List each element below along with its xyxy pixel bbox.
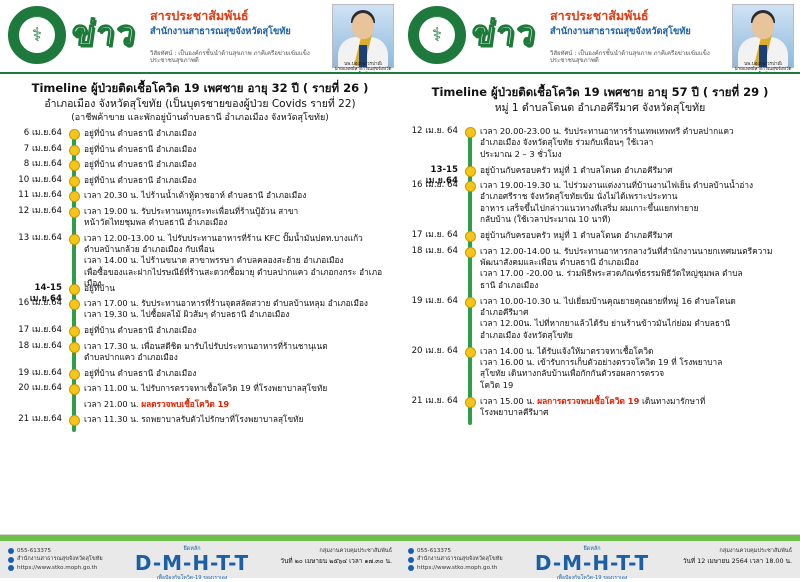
left-footer-office: สำนักงานสาธารณสุขจังหวัดสุโขทัย — [17, 555, 103, 563]
timeline-dot — [69, 145, 80, 156]
right-dmhtt-text: D-M-H-T-T — [532, 553, 652, 573]
timeline-dot — [69, 326, 80, 337]
timeline-dot — [69, 369, 80, 380]
ministry-seal-icon: ⚕ — [8, 6, 66, 64]
timeline-date: 16 เม.ย.64 — [4, 298, 62, 309]
left-heading-line2: อำเภอเมือง จังหวัดสุโขทัย (เป็นบุตรชายขอ… — [0, 97, 400, 112]
left-heading-line3: (อาชีพค้าขาย และพักอยู่บ้านตำบลธานี อำเภ… — [0, 112, 400, 125]
phone-icon — [8, 548, 14, 554]
right-footer-office: สำนักงานสาธารณสุขจังหวัดสุโขทัย — [417, 555, 503, 563]
right-footer-right: กลุ่มงานควบคุมประชาสัมพันธ์ วันที่ 12 เม… — [662, 547, 792, 566]
right-banner-subtitle: สำนักงานสาธารณสุขจังหวัดสุโขทัย — [550, 26, 728, 38]
caduceus-icon-right: ⚕ — [418, 16, 456, 54]
right-footer-band — [400, 535, 800, 541]
timeline-date: 17 เม.ย.64 — [4, 325, 62, 336]
timeline-description: อยู่บ้านกับครอบครัว หมู่ที่ 1 ตำบลโตนด อ… — [480, 230, 798, 241]
timeline-description: เวลา 17.30 น. เพื่อนสดีชิด มารับไปรับประ… — [84, 341, 396, 364]
timeline-dot — [465, 127, 476, 138]
timeline-description: เวลา 20.30 น. ไปร้านน้ำเต้าหู้ตาชอาห์ ตำ… — [84, 190, 396, 201]
right-portrait-caption: นพ.ปองพล วรปาณิ นายแพทย์สาธารณสุขจังหวัด… — [732, 62, 794, 74]
building-icon-right — [408, 557, 414, 563]
timeline-dot — [69, 299, 80, 310]
phone-icon-right — [408, 548, 414, 554]
timeline-dot — [465, 231, 476, 242]
timeline-date: 18 เม.ย. 64 — [400, 246, 458, 257]
left-portrait-caption: นพ.ปองพล วรปาณิ นายแพทย์สาธารณสุขจังหวัด… — [332, 62, 394, 74]
right-banner-khao: ข่าว — [468, 6, 540, 60]
portrait-head-right — [752, 13, 774, 39]
timeline-dot — [69, 160, 80, 171]
timeline-dot — [465, 397, 476, 408]
timeline-dot — [69, 176, 80, 187]
timeline-dot — [69, 207, 80, 218]
portrait-head — [352, 13, 374, 39]
timeline-date: 20 เม.ย.64 — [4, 383, 62, 394]
left-dmhtt-text: D-M-H-T-T — [132, 553, 252, 573]
left-footer-contact: 055-613375 สำนักงานสาธารณสุขจังหวัดสุโขท… — [8, 547, 103, 572]
left-banner-subtitle: สำนักงานสาธารณสุขจังหวัดสุโขทัย — [150, 26, 328, 38]
right-footer: 055-613375 สำนักงานสาธารณสุขจังหวัดสุโขท… — [400, 534, 800, 578]
left-official-portrait — [332, 4, 394, 68]
timeline-description: เวลา 20.00-23.00 น. รับประทานอาหารร้านเท… — [480, 126, 798, 160]
timeline-date: 12 เม.ย. 64 — [400, 126, 458, 137]
timeline-description: เวลา 10.00-10.30 น. ไปเยี่ยมบ้านคุณยายคุ… — [480, 296, 798, 342]
caduceus-icon: ⚕ — [18, 16, 56, 54]
left-footer-note: กลุ่มงานควบคุมประชาสัมพันธ์ — [262, 547, 392, 556]
right-heading-line2: หมู่ 1 ตำบลโตนด อำเภอคีรีมาศ จังหวัดสุโข… — [400, 101, 800, 116]
left-footer-right: กลุ่มงานควบคุมประชาสัมพันธ์ วันที่ ๒๐ เม… — [262, 547, 392, 566]
highlight-text: ผลตรวจพบเชื้อโควิด 19 — [141, 399, 229, 409]
timeline-date: 21 เม.ย.64 — [4, 414, 62, 425]
timeline-dot — [69, 384, 80, 395]
timeline-dot — [69, 129, 80, 140]
timeline-description: เวลา 14.00 น. ได้รับแจ้งให้มาตรวจหาเชื้อ… — [480, 346, 798, 392]
timeline-description: เวลา 11.00 น. ไปรับการตรวจหาเชื้อโควิด 1… — [84, 383, 396, 394]
timeline-date: 17 เม.ย. 64 — [400, 230, 458, 241]
timeline-date: 11 เม.ย.64 — [4, 190, 62, 201]
timeline-description: อยู่ที่บ้าน ตำบลธานี อำเภอเมือง — [84, 144, 396, 155]
timeline-dot — [69, 415, 80, 426]
timeline-date: 10 เม.ย.64 — [4, 175, 62, 186]
timeline-description: เวลา 17.00 น. รับประทานอาหารที่ร้านจุดสล… — [84, 298, 396, 321]
globe-icon — [8, 565, 14, 571]
ministry-seal-icon-right: ⚕ — [408, 6, 466, 64]
timeline-description: เวลา 12.00-13.00 น. ไปรับประทานอาหารที่ร… — [84, 233, 396, 290]
timeline-description: อยู่ที่บ้าน ตำบลธานี อำเภอเมือง — [84, 128, 396, 139]
left-poster-panel: ⚕ ข่าว สารประชาสัมพันธ์ สำนักงานสาธารณสุ… — [0, 0, 400, 578]
right-footer-web[interactable]: https://www.stko.moph.go.th — [417, 564, 497, 572]
right-footer-phone: 055-613375 — [417, 547, 451, 555]
right-banner-title: สารประชาสัมพันธ์ — [550, 8, 720, 24]
globe-icon-right — [408, 565, 414, 571]
right-dmhtt-block: ยึดหลัก D-M-H-T-T เพื่อป้องกันโควิด-19 ข… — [532, 545, 652, 582]
timeline-dot — [465, 297, 476, 308]
timeline-date: 7 เม.ย.64 — [4, 144, 62, 155]
timeline-description: เวลา 15.00 น. ผลการตรวจพบเชื้อโควิด 19 เ… — [480, 396, 798, 419]
timeline-description: อยู่ที่บ้าน ตำบลธานี อำเภอเมือง — [84, 175, 396, 186]
right-header-banner: ⚕ ข่าว สารประชาสัมพันธ์ สำนักงานสาธารณสุ… — [400, 0, 800, 74]
timeline-dot — [465, 181, 476, 192]
timeline-description: เวลา 21.00 น. ผลตรวจพบเชื้อโควิด 19 — [84, 399, 396, 410]
timeline-description: เวลา 11.30 น. รถพยาบาลรับตัวไปรักษาที่โร… — [84, 414, 396, 425]
timeline-dot — [465, 347, 476, 358]
poster-page: ⚕ ข่าว สารประชาสัมพันธ์ สำนักงานสาธารณสุ… — [0, 0, 800, 578]
right-dmhtt-sub: เพื่อป้องกันโควิด-19 ของเราเอง — [532, 574, 652, 582]
timeline-description: อยู่ที่บ้าน ตำบลธานี อำเภอเมือง — [84, 325, 396, 336]
right-heading-line1: Timeline ผู้ป่วยติดเชื้อโควิด 19 เพศชาย … — [400, 84, 800, 101]
left-footer: 055-613375 สำนักงานสาธารณสุขจังหวัดสุโขท… — [0, 534, 400, 578]
timeline-dot — [465, 247, 476, 258]
timeline-dot — [69, 191, 80, 202]
left-banner-khao: ข่าว — [68, 6, 140, 60]
left-footer-web[interactable]: https://www.stko.moph.go.th — [17, 564, 97, 572]
timeline-description: เวลา 19.00 น. รับประทานหมูกระทะเพื่อนที่… — [84, 206, 396, 229]
right-footer-contact: 055-613375 สำนักงานสาธารณสุขจังหวัดสุโขท… — [408, 547, 503, 572]
timeline-date: 20 เม.ย. 64 — [400, 346, 458, 357]
timeline-description: อยู่ที่บ้าน ตำบลธานี อำเภอเมือง — [84, 368, 396, 379]
right-poster-panel: ⚕ ข่าว สารประชาสัมพันธ์ สำนักงานสาธารณสุ… — [400, 0, 800, 578]
timeline-date: 8 เม.ย.64 — [4, 159, 62, 170]
left-banner-vision: วิสัยทัศน์ : เป็นองค์กรชั้นนำด้านสุขภาพ … — [150, 50, 328, 64]
right-footer-date: วันที่ 12 เมษายน 2564 เวลา 18.00 น. — [662, 556, 792, 566]
timeline-date: 13 เม.ย.64 — [4, 233, 62, 244]
left-footer-phone: 055-613375 — [17, 547, 51, 555]
right-banner-vision: วิสัยทัศน์ : เป็นองค์กรชั้นนำด้านสุขภาพ … — [550, 50, 728, 64]
left-heading-line1: Timeline ผู้ป่วยติดเชื้อโควิด 19 เพศชาย … — [0, 80, 400, 97]
timeline-date: 19 เม.ย. 64 — [400, 296, 458, 307]
timeline-description: เวลา 12.00-14.00 น. รับประทานอาหารกลางวั… — [480, 246, 798, 292]
left-header-banner: ⚕ ข่าว สารประชาสัมพันธ์ สำนักงานสาธารณสุ… — [0, 0, 400, 74]
right-footer-note: กลุ่มงานควบคุมประชาสัมพันธ์ — [662, 547, 792, 556]
left-footer-band — [0, 535, 400, 541]
left-heading-block: Timeline ผู้ป่วยติดเชื้อโควิด 19 เพศชาย … — [0, 80, 400, 124]
timeline-description: อยู่ที่บ้าน — [84, 283, 396, 294]
left-dmhtt-sub: เพื่อป้องกันโควิด-19 ของเราเอง — [132, 574, 252, 582]
left-banner-title: สารประชาสัมพันธ์ — [150, 8, 320, 24]
building-icon — [8, 557, 14, 563]
timeline-date: 19 เม.ย.64 — [4, 368, 62, 379]
timeline-date: 6 เม.ย.64 — [4, 128, 62, 139]
timeline-description: อยู่บ้านกับครอบครัว หมู่ที่ 1 ตำบลโตนด อ… — [480, 165, 798, 176]
timeline-date: 16 เม.ย. 64 — [400, 180, 458, 191]
timeline-date: 21 เม.ย. 64 — [400, 396, 458, 407]
timeline-date: 12 เม.ย.64 — [4, 206, 62, 217]
timeline-date: 18 เม.ย.64 — [4, 341, 62, 352]
highlight-text: ผลการตรวจพบเชื้อโควิด 19 — [537, 396, 639, 406]
timeline-dot — [69, 234, 80, 245]
timeline-dot — [69, 284, 80, 295]
timeline-dot — [465, 166, 476, 177]
left-dmhtt-block: ยึดหลัก D-M-H-T-T เพื่อป้องกันโควิด-19 ข… — [132, 545, 252, 582]
left-footer-date: วันที่ ๒๐ เมษายน ๒๕๖๔ เวลา ๑๗.๓๐ น. — [262, 556, 392, 566]
timeline-description: อยู่ที่บ้าน ตำบลธานี อำเภอเมือง — [84, 159, 396, 170]
right-heading-block: Timeline ผู้ป่วยติดเชื้อโควิด 19 เพศชาย … — [400, 84, 800, 116]
timeline-description: เวลา 19.00-19.30 น. ไปร่วมงานแต่งงานที่บ… — [480, 180, 798, 226]
timeline-dot — [69, 342, 80, 353]
right-official-portrait — [732, 4, 794, 68]
